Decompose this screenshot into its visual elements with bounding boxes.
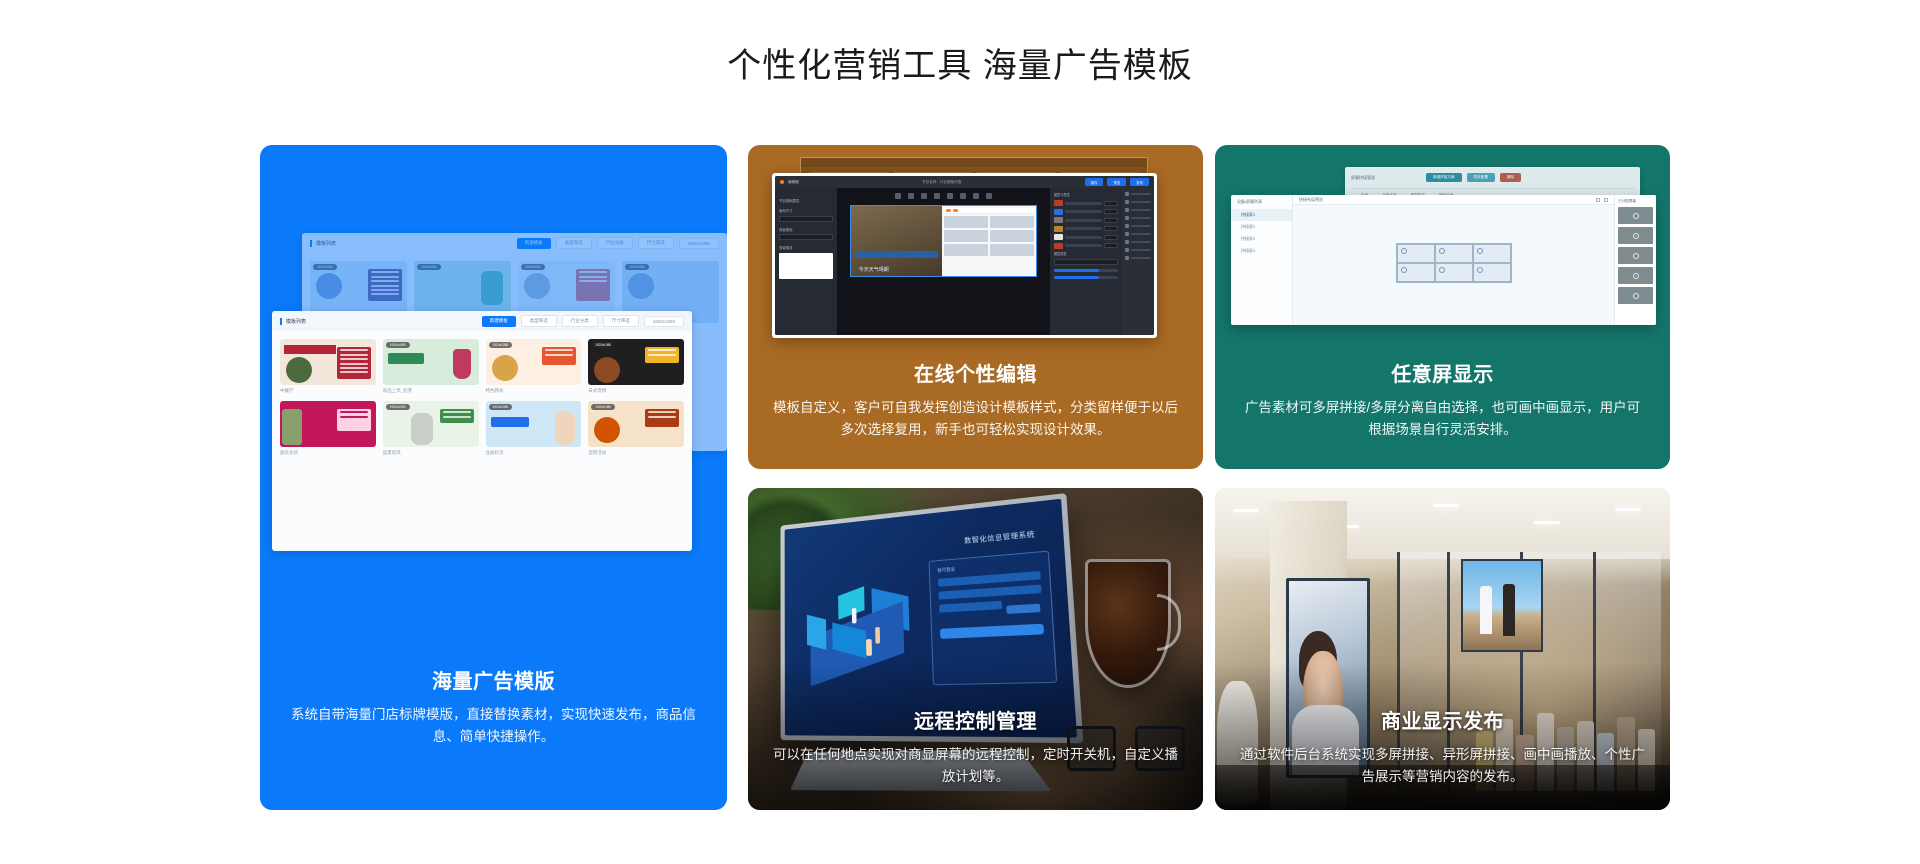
page-title: 个性化营销工具 海量广告模板 bbox=[0, 42, 1920, 90]
template-art-model bbox=[282, 409, 302, 445]
layer-properties-title: 图层属性 bbox=[1054, 251, 1118, 256]
feature-card-mass-ad-templates[interactable]: 模板列表 新建模板 类型筛选 行业分类 尺寸筛选 1920x1080 1920x… bbox=[260, 145, 727, 810]
card-body: 系统自带海量门店标牌模版，直接替换素材，实现快速发布，商品信息、简单快捷操作。 bbox=[284, 704, 703, 748]
background-swatch[interactable] bbox=[779, 253, 833, 279]
card-text-block: 任意屏显示 广告素材可多屏拼接/多屏分离自由选择，也可画中画显示，用户可根据场景… bbox=[1215, 358, 1670, 441]
panel-item[interactable] bbox=[1125, 232, 1151, 236]
editor-left-panel: 节目基础属性 画布尺寸 背景颜色 背景素材 bbox=[775, 188, 837, 335]
play-icon bbox=[1633, 213, 1639, 219]
card-body: 模板自定义，客户可自我发挥创造设计模板样式，分类留样便于以后多次选择复用，新手也… bbox=[772, 397, 1179, 441]
template-card[interactable]: 1920x1080 新品上市_奶茶 bbox=[383, 339, 479, 394]
editor-window: 编辑器 节目名称：行业模板列表 保存 预览 发布 节目基础属性 画布尺寸 背 bbox=[772, 173, 1157, 338]
template-art-model bbox=[555, 411, 575, 445]
card-heading: 海量广告模版 bbox=[284, 665, 703, 694]
shape-tool-icon[interactable] bbox=[973, 193, 979, 199]
video-tool-icon[interactable] bbox=[921, 193, 927, 199]
illustration-person bbox=[867, 639, 872, 656]
feature-card-any-screen-display[interactable]: 屏幕拼接管理 新增拼接方案 同步配置 删除 序号 方案名称 屏幕数量 操作时间 bbox=[1215, 145, 1670, 469]
template-caption: 促销活动 bbox=[588, 450, 684, 456]
screen-layout-mockup: 屏幕拼接管理 新增拼接方案 同步配置 删除 序号 方案名称 屏幕数量 操作时间 bbox=[1215, 145, 1670, 345]
card-heading: 远程控制管理 bbox=[772, 705, 1179, 734]
divider bbox=[1351, 188, 1634, 189]
template-art-cup bbox=[481, 271, 503, 305]
screen-nav-item-3[interactable]: 拼接屏3 bbox=[1231, 233, 1292, 245]
editor-section-canvas-size: 画布尺寸 bbox=[779, 208, 833, 213]
splice-cell-5[interactable] bbox=[1435, 263, 1473, 282]
filter-industry-button-back[interactable]: 行业分类 bbox=[597, 237, 633, 249]
cell-handle-icon bbox=[1477, 248, 1483, 254]
screen-nav-item-2[interactable]: 拼接屏2 bbox=[1231, 221, 1292, 233]
template-art-menu bbox=[645, 409, 679, 427]
template-art-menu bbox=[337, 347, 371, 379]
template-caption: 服装女装 bbox=[280, 450, 376, 456]
image-tool-icon[interactable] bbox=[908, 193, 914, 199]
assigned-screens-panel: 已分配屏幕 bbox=[1614, 195, 1656, 325]
editor-titlebar: 编辑器 节目名称：行业模板列表 保存 预览 发布 bbox=[775, 176, 1154, 188]
editor-doc-title: 节目名称：行业模板列表 bbox=[803, 180, 1081, 185]
login-submit-button[interactable] bbox=[940, 624, 1044, 639]
billboard-model-left bbox=[1480, 586, 1492, 634]
assigned-screen-item[interactable] bbox=[1618, 227, 1653, 244]
template-list-toolbar-back: 模板列表 新建模板 类型筛选 行业分类 尺寸筛选 1920x1080 bbox=[302, 233, 727, 253]
card-body: 可以在任何地点实现对商显屏幕的远程控制，定时开关机，自定义播放计划等。 bbox=[772, 744, 1179, 788]
template-art-circle bbox=[594, 417, 620, 443]
template-art-noodles bbox=[492, 355, 518, 381]
filter-type-button-back[interactable]: 类型筛选 bbox=[556, 237, 592, 249]
template-thumbnail bbox=[280, 401, 376, 447]
template-badge: 1920x1080 bbox=[489, 342, 513, 348]
delete-button[interactable]: 删除 bbox=[1500, 173, 1521, 182]
template-caption: 日式烧烤 bbox=[588, 388, 684, 394]
editor-publish-button[interactable]: 发布 bbox=[1130, 178, 1149, 186]
panel-item[interactable] bbox=[1125, 216, 1151, 220]
template-badge: 1920x1080 bbox=[591, 342, 615, 348]
panel-item[interactable] bbox=[1125, 248, 1151, 252]
overhead-billboard bbox=[1461, 559, 1543, 652]
fullscreen-icon[interactable] bbox=[1596, 198, 1600, 202]
layer-type-select[interactable] bbox=[1054, 259, 1118, 265]
template-art-banner bbox=[491, 417, 529, 427]
text-tool-icon[interactable] bbox=[895, 193, 901, 199]
template-art-model bbox=[411, 413, 433, 445]
template-thumbnail: 1920x1080 bbox=[588, 339, 684, 385]
template-art-menu bbox=[368, 269, 402, 301]
template-card[interactable]: 1920x1080 盛夏新风 bbox=[383, 401, 479, 456]
template-thumbnail: 1920x1080 bbox=[486, 339, 582, 385]
filter-industry-button[interactable]: 行业分类 bbox=[562, 315, 598, 327]
resolution-select-back[interactable]: 1920x1080 bbox=[679, 238, 719, 249]
username-field[interactable] bbox=[938, 571, 1041, 587]
template-caption: 盛夏新风 bbox=[383, 450, 479, 456]
stage-header: 拼接布局预览 bbox=[1293, 195, 1614, 205]
billboard-model-right bbox=[1503, 584, 1515, 636]
captcha-field[interactable] bbox=[939, 601, 1002, 613]
editor-mockup: 编辑器 节目名称：行业模板列表 保存 预览 发布 节目基础属性 画布尺寸 背 bbox=[748, 145, 1203, 360]
template-list-toolbar: 模板列表 新建模板 类型筛选 行业分类 尺寸筛选 1920x1080 bbox=[272, 311, 692, 331]
captcha-image[interactable] bbox=[1006, 604, 1041, 614]
layer-row[interactable] bbox=[1054, 209, 1118, 215]
assigned-screens-title: 已分配屏幕 bbox=[1618, 199, 1653, 204]
web-tool-icon[interactable] bbox=[960, 193, 966, 199]
filter-type-button[interactable]: 类型筛选 bbox=[521, 315, 557, 327]
template-art-grill bbox=[594, 357, 620, 383]
editor-section-background-material: 背景素材 bbox=[779, 245, 833, 250]
feature-card-remote-control-management[interactable]: 数智化信息管理系统 账号登录 bbox=[748, 488, 1203, 810]
illustration-screen-1 bbox=[807, 615, 827, 651]
template-art-drink bbox=[453, 349, 471, 379]
template-badge: 1920x1080 bbox=[313, 264, 337, 270]
filter-size-button-back[interactable]: 尺寸筛选 bbox=[638, 237, 674, 249]
panel-item[interactable] bbox=[1125, 192, 1151, 196]
opacity-slider[interactable] bbox=[1054, 269, 1118, 272]
template-art-dish bbox=[286, 357, 312, 383]
template-badge: 1920x1080 bbox=[591, 404, 615, 410]
template-thumbnail: 1920x1080 bbox=[383, 339, 479, 385]
canvas-size-input[interactable] bbox=[779, 216, 833, 222]
editor-far-right-panel bbox=[1122, 188, 1154, 335]
template-thumbnail: 1920x1080 bbox=[588, 401, 684, 447]
card-body: 广告素材可多屏拼接/多屏分离自由选择，也可画中画显示，用户可根据场景自行灵活安排… bbox=[1239, 397, 1646, 441]
template-art-menu bbox=[645, 347, 679, 363]
template-art-circle bbox=[628, 273, 654, 299]
template-badge: 1920x1080 bbox=[386, 404, 410, 410]
webpage-header bbox=[944, 208, 1035, 214]
stage-caption-bar bbox=[855, 251, 938, 258]
template-card[interactable]: 服装女装 bbox=[280, 401, 376, 456]
login-screen-title: 数智化信息管理系统 bbox=[964, 529, 1035, 546]
add-splice-button[interactable]: 新增拼接方案 bbox=[1426, 173, 1462, 182]
editor-stage[interactable]: 今天天气晴朗 bbox=[850, 205, 1037, 277]
feature-card-commercial-display-publishing[interactable]: 商业显示发布 通过软件后台系统实现多屏拼接、异形屏拼接、画中画播放、个性广告展示… bbox=[1215, 488, 1670, 810]
screen-nav-item-4[interactable]: 拼接屏4 bbox=[1231, 245, 1292, 257]
stage-title: 拼接布局预览 bbox=[1299, 197, 1323, 203]
back-panel-toolbar: 屏幕拼接管理 新增拼接方案 同步配置 删除 bbox=[1351, 173, 1634, 182]
password-field[interactable] bbox=[938, 585, 1041, 600]
template-caption: 中餐厅 bbox=[280, 388, 376, 394]
editor-app-name: 编辑器 bbox=[788, 180, 799, 185]
weather-tool-icon[interactable] bbox=[934, 193, 940, 199]
screen-layout-front-panel: 设备/屏幕列表 拼接屏1 拼接屏2 拼接屏3 拼接屏4 拼接布局预览 bbox=[1231, 195, 1656, 325]
clock-tool-icon[interactable] bbox=[947, 193, 953, 199]
feature-card-online-personal-editing[interactable]: 编辑器 节目名称：行业模板列表 保存 预览 发布 节目基础属性 画布尺寸 背 bbox=[748, 145, 1203, 469]
cell-handle-icon bbox=[1401, 248, 1407, 254]
template-caption: 品质好货 bbox=[486, 450, 582, 456]
layer-row[interactable] bbox=[1054, 226, 1118, 232]
template-badge: 1920x1080 bbox=[417, 264, 441, 270]
illustration-person bbox=[852, 609, 857, 625]
template-card[interactable]: 中餐厅 bbox=[280, 339, 376, 394]
template-thumbnail: 1920x1080 bbox=[486, 401, 582, 447]
illustration-person bbox=[875, 627, 880, 644]
splice-cell-4[interactable] bbox=[1397, 263, 1435, 282]
template-card[interactable]: 1920x1080 日式烧烤 bbox=[588, 339, 684, 394]
panel-item[interactable] bbox=[1125, 208, 1151, 212]
new-template-button-back[interactable]: 新建模板 bbox=[517, 238, 551, 249]
panel-item[interactable] bbox=[1125, 224, 1151, 228]
play-icon bbox=[1633, 253, 1639, 259]
template-art-circle bbox=[524, 273, 550, 299]
template-art-circle bbox=[316, 273, 342, 299]
stage-caption-text: 今天天气晴朗 bbox=[859, 266, 889, 273]
splice-cell-6[interactable] bbox=[1473, 263, 1511, 282]
editor-right-panel: 图层与属性 图层属性 bbox=[1050, 188, 1122, 335]
template-card[interactable]: 1920x1080 品质好货 bbox=[486, 401, 582, 456]
play-icon bbox=[1633, 293, 1639, 299]
assigned-screen-item[interactable] bbox=[1618, 247, 1653, 264]
template-list-title: 模板列表 bbox=[280, 318, 306, 325]
template-list-front-panel: 模板列表 新建模板 类型筛选 行业分类 尺寸筛选 1920x1080 bbox=[272, 311, 692, 551]
template-art-menu bbox=[542, 347, 576, 365]
editor-app: 编辑器 节目名称：行业模板列表 保存 预览 发布 节目基础属性 画布尺寸 背 bbox=[775, 176, 1154, 335]
play-icon bbox=[1633, 273, 1639, 279]
template-thumbnail: 1920x1080 bbox=[383, 401, 479, 447]
card-heading: 任意屏显示 bbox=[1239, 358, 1646, 387]
editor-section-background-color: 背景颜色 bbox=[779, 227, 833, 232]
screen-list-nav: 设备/屏幕列表 拼接屏1 拼接屏2 拼接屏3 拼接屏4 bbox=[1231, 195, 1293, 325]
template-card[interactable]: 1920x1080 促销活动 bbox=[588, 401, 684, 456]
webpage-thumbnail-grid bbox=[944, 216, 1035, 256]
template-badge: 1920x1080 bbox=[521, 264, 545, 270]
marketing-features-page: 个性化营销工具 海量广告模板 模板列表 新建模板 类型筛选 行业分类 尺寸筛选 … bbox=[0, 0, 1920, 864]
splice-cell-2[interactable] bbox=[1435, 244, 1473, 263]
cell-handle-icon bbox=[1439, 267, 1445, 273]
trash-icon[interactable] bbox=[1604, 198, 1608, 202]
feature-card-grid: 模板列表 新建模板 类型筛选 行业分类 尺寸筛选 1920x1080 1920x… bbox=[260, 145, 1670, 810]
editor-right-title: 图层与属性 bbox=[1054, 192, 1118, 197]
template-thumbnail bbox=[280, 339, 376, 385]
filter-size-button[interactable]: 尺寸筛选 bbox=[603, 315, 639, 327]
stage-right-webpage bbox=[942, 206, 1037, 276]
template-list-mockup: 模板列表 新建模板 类型筛选 行业分类 尺寸筛选 1920x1080 1920x… bbox=[260, 233, 727, 563]
template-art-header bbox=[284, 345, 336, 354]
screen-list-title: 设备/屏幕列表 bbox=[1231, 199, 1292, 209]
template-grid: 中餐厅 1920x1080 新品上市_奶茶 bbox=[272, 331, 692, 464]
panel-item[interactable] bbox=[1125, 256, 1151, 260]
template-art-banner bbox=[388, 353, 424, 364]
background-color-input[interactable] bbox=[779, 234, 833, 240]
template-list-title-back: 模板列表 bbox=[310, 240, 336, 247]
template-art-menu bbox=[337, 409, 371, 431]
cell-handle-icon bbox=[1477, 267, 1483, 273]
editor-canvas-area[interactable]: 今天天气晴朗 bbox=[837, 188, 1050, 335]
template-badge: 1920x1080 bbox=[386, 342, 410, 348]
splice-cell-3[interactable] bbox=[1473, 244, 1511, 263]
template-card[interactable]: 1920x1080 特色韩式 bbox=[486, 339, 582, 394]
template-art-menu bbox=[440, 409, 474, 423]
editor-preview-button[interactable]: 预览 bbox=[1107, 178, 1126, 186]
screen-layout-stage[interactable]: 拼接布局预览 bbox=[1293, 195, 1614, 325]
play-icon bbox=[1633, 233, 1639, 239]
card-text-block: 在线个性编辑 模板自定义，客户可自我发挥创造设计模板样式，分类留样便于以后多次选… bbox=[748, 358, 1203, 441]
app-logo-icon bbox=[780, 180, 784, 184]
editor-back-titlebar bbox=[801, 158, 1147, 167]
template-caption: 新品上市_奶茶 bbox=[383, 388, 479, 394]
editor-toolbar bbox=[895, 193, 992, 199]
layer-row[interactable] bbox=[1054, 217, 1118, 223]
cell-handle-icon bbox=[1439, 248, 1445, 254]
editor-left-title: 节目基础属性 bbox=[779, 198, 833, 203]
back-panel-title: 屏幕拼接管理 bbox=[1351, 175, 1421, 181]
editor-body: 节目基础属性 画布尺寸 背景颜色 背景素材 bbox=[775, 188, 1154, 335]
layer-row[interactable] bbox=[1054, 234, 1118, 240]
new-template-button[interactable]: 新建模板 bbox=[482, 316, 516, 327]
panel-item[interactable] bbox=[1125, 240, 1151, 244]
editor-save-button[interactable]: 保存 bbox=[1085, 178, 1104, 186]
card-text-block: 商业显示发布 通过软件后台系统实现多屏拼接、异形屏拼接、画中画播放、个性广告展示… bbox=[1215, 705, 1670, 788]
assigned-screen-item[interactable] bbox=[1618, 267, 1653, 284]
panel-item[interactable] bbox=[1125, 200, 1151, 204]
screen-nav-item-1[interactable]: 拼接屏1 bbox=[1231, 209, 1292, 221]
template-badge: 1920x1080 bbox=[489, 404, 513, 410]
card-text-block: 远程控制管理 可以在任何地点实现对商显屏幕的远程控制，定时开关机，自定义播放计划… bbox=[748, 705, 1203, 788]
layer-row[interactable] bbox=[1054, 200, 1118, 206]
card-heading: 在线个性编辑 bbox=[772, 358, 1179, 387]
card-body: 通过软件后台系统实现多屏拼接、异形屏拼接、画中画播放、个性广告展示等营销内容的发… bbox=[1239, 744, 1646, 788]
splice-cell-1[interactable] bbox=[1397, 244, 1435, 263]
template-caption: 特色韩式 bbox=[486, 388, 582, 394]
more-tool-icon[interactable] bbox=[986, 193, 992, 199]
stage-left-scene: 今天天气晴朗 bbox=[851, 206, 942, 276]
card-heading: 商业显示发布 bbox=[1239, 705, 1646, 734]
template-art-menu bbox=[576, 269, 610, 301]
assigned-screen-item[interactable] bbox=[1618, 287, 1653, 304]
cell-handle-icon bbox=[1401, 267, 1407, 273]
card-text-block: 海量广告模版 系统自带海量门店标牌模版，直接替换素材，实现快速发布，商品信息、简… bbox=[260, 665, 727, 748]
template-badge: 1920x1080 bbox=[625, 264, 649, 270]
resolution-select[interactable]: 1920x1080 bbox=[644, 316, 684, 327]
rotation-slider[interactable] bbox=[1054, 276, 1118, 279]
sync-config-button[interactable]: 同步配置 bbox=[1467, 173, 1495, 182]
layer-row[interactable] bbox=[1054, 243, 1118, 249]
splice-grid[interactable] bbox=[1396, 243, 1512, 283]
assigned-screen-item[interactable] bbox=[1618, 207, 1653, 224]
